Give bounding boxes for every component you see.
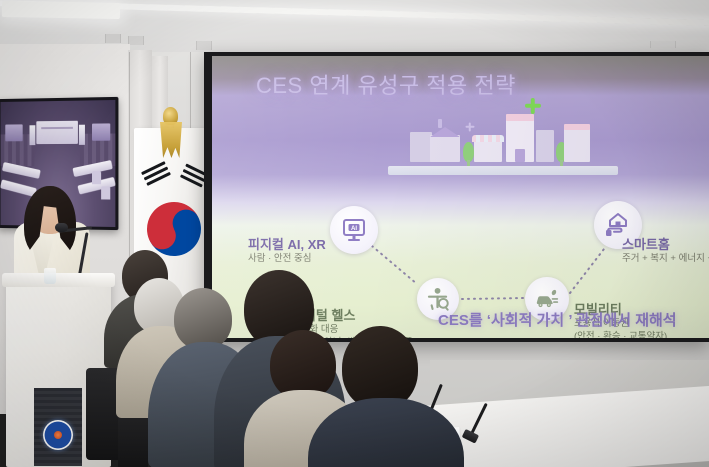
- water-glass: [44, 268, 56, 284]
- ceiling-vent: [128, 36, 144, 45]
- ceiling-lamp: [2, 1, 120, 19]
- conference-room-photo: CES 연계 유성구 적용 전략: [0, 0, 709, 467]
- node-sub: (안전 · 환승 · 교통약자): [574, 331, 667, 338]
- ceiling-vent: [105, 34, 121, 43]
- monitor-ai-icon: AI: [340, 216, 368, 244]
- node-heading: 스마트홈: [622, 234, 709, 253]
- svg-text:AI: AI: [351, 226, 357, 232]
- label-physical-ai-xr: 피지컬 AI, XR 사람 · 안전 중심: [248, 234, 326, 266]
- node-heading: 피지컬 AI, XR: [248, 234, 326, 253]
- feed-flag: [79, 124, 85, 144]
- feed-main-screen: [36, 121, 77, 144]
- government-emblem-icon: [43, 420, 73, 450]
- feed-chair: [101, 186, 110, 199]
- label-smart-home: 스마트홈 주거 + 복지 + 에너지 + 안전: [622, 234, 709, 266]
- node-sub: 사람 · 안전 중심: [248, 253, 326, 266]
- ceiling-vent: [196, 41, 212, 50]
- node-sub: 주거 + 복지 + 에너지 + 안전: [622, 253, 709, 266]
- slide-footer-text: CES를 ‘사회적 가치 ’ 관점에서 재해석: [438, 309, 677, 330]
- feed-flag: [30, 125, 36, 145]
- person-checkup-icon: [426, 287, 451, 312]
- ceiling-vent: [650, 41, 676, 48]
- podium-top: [2, 273, 115, 287]
- podium-front-plate: [34, 388, 82, 466]
- feed-side-screen: [92, 123, 111, 141]
- feed-chair: [92, 171, 101, 184]
- flag-tassel: [160, 122, 182, 158]
- trigram-geon: [141, 161, 171, 186]
- node-physical-ai-xr[interactable]: AI: [330, 206, 378, 254]
- feed-side-screen: [5, 124, 23, 141]
- podium-microphone-head: [55, 223, 68, 232]
- feed-table: [0, 179, 36, 197]
